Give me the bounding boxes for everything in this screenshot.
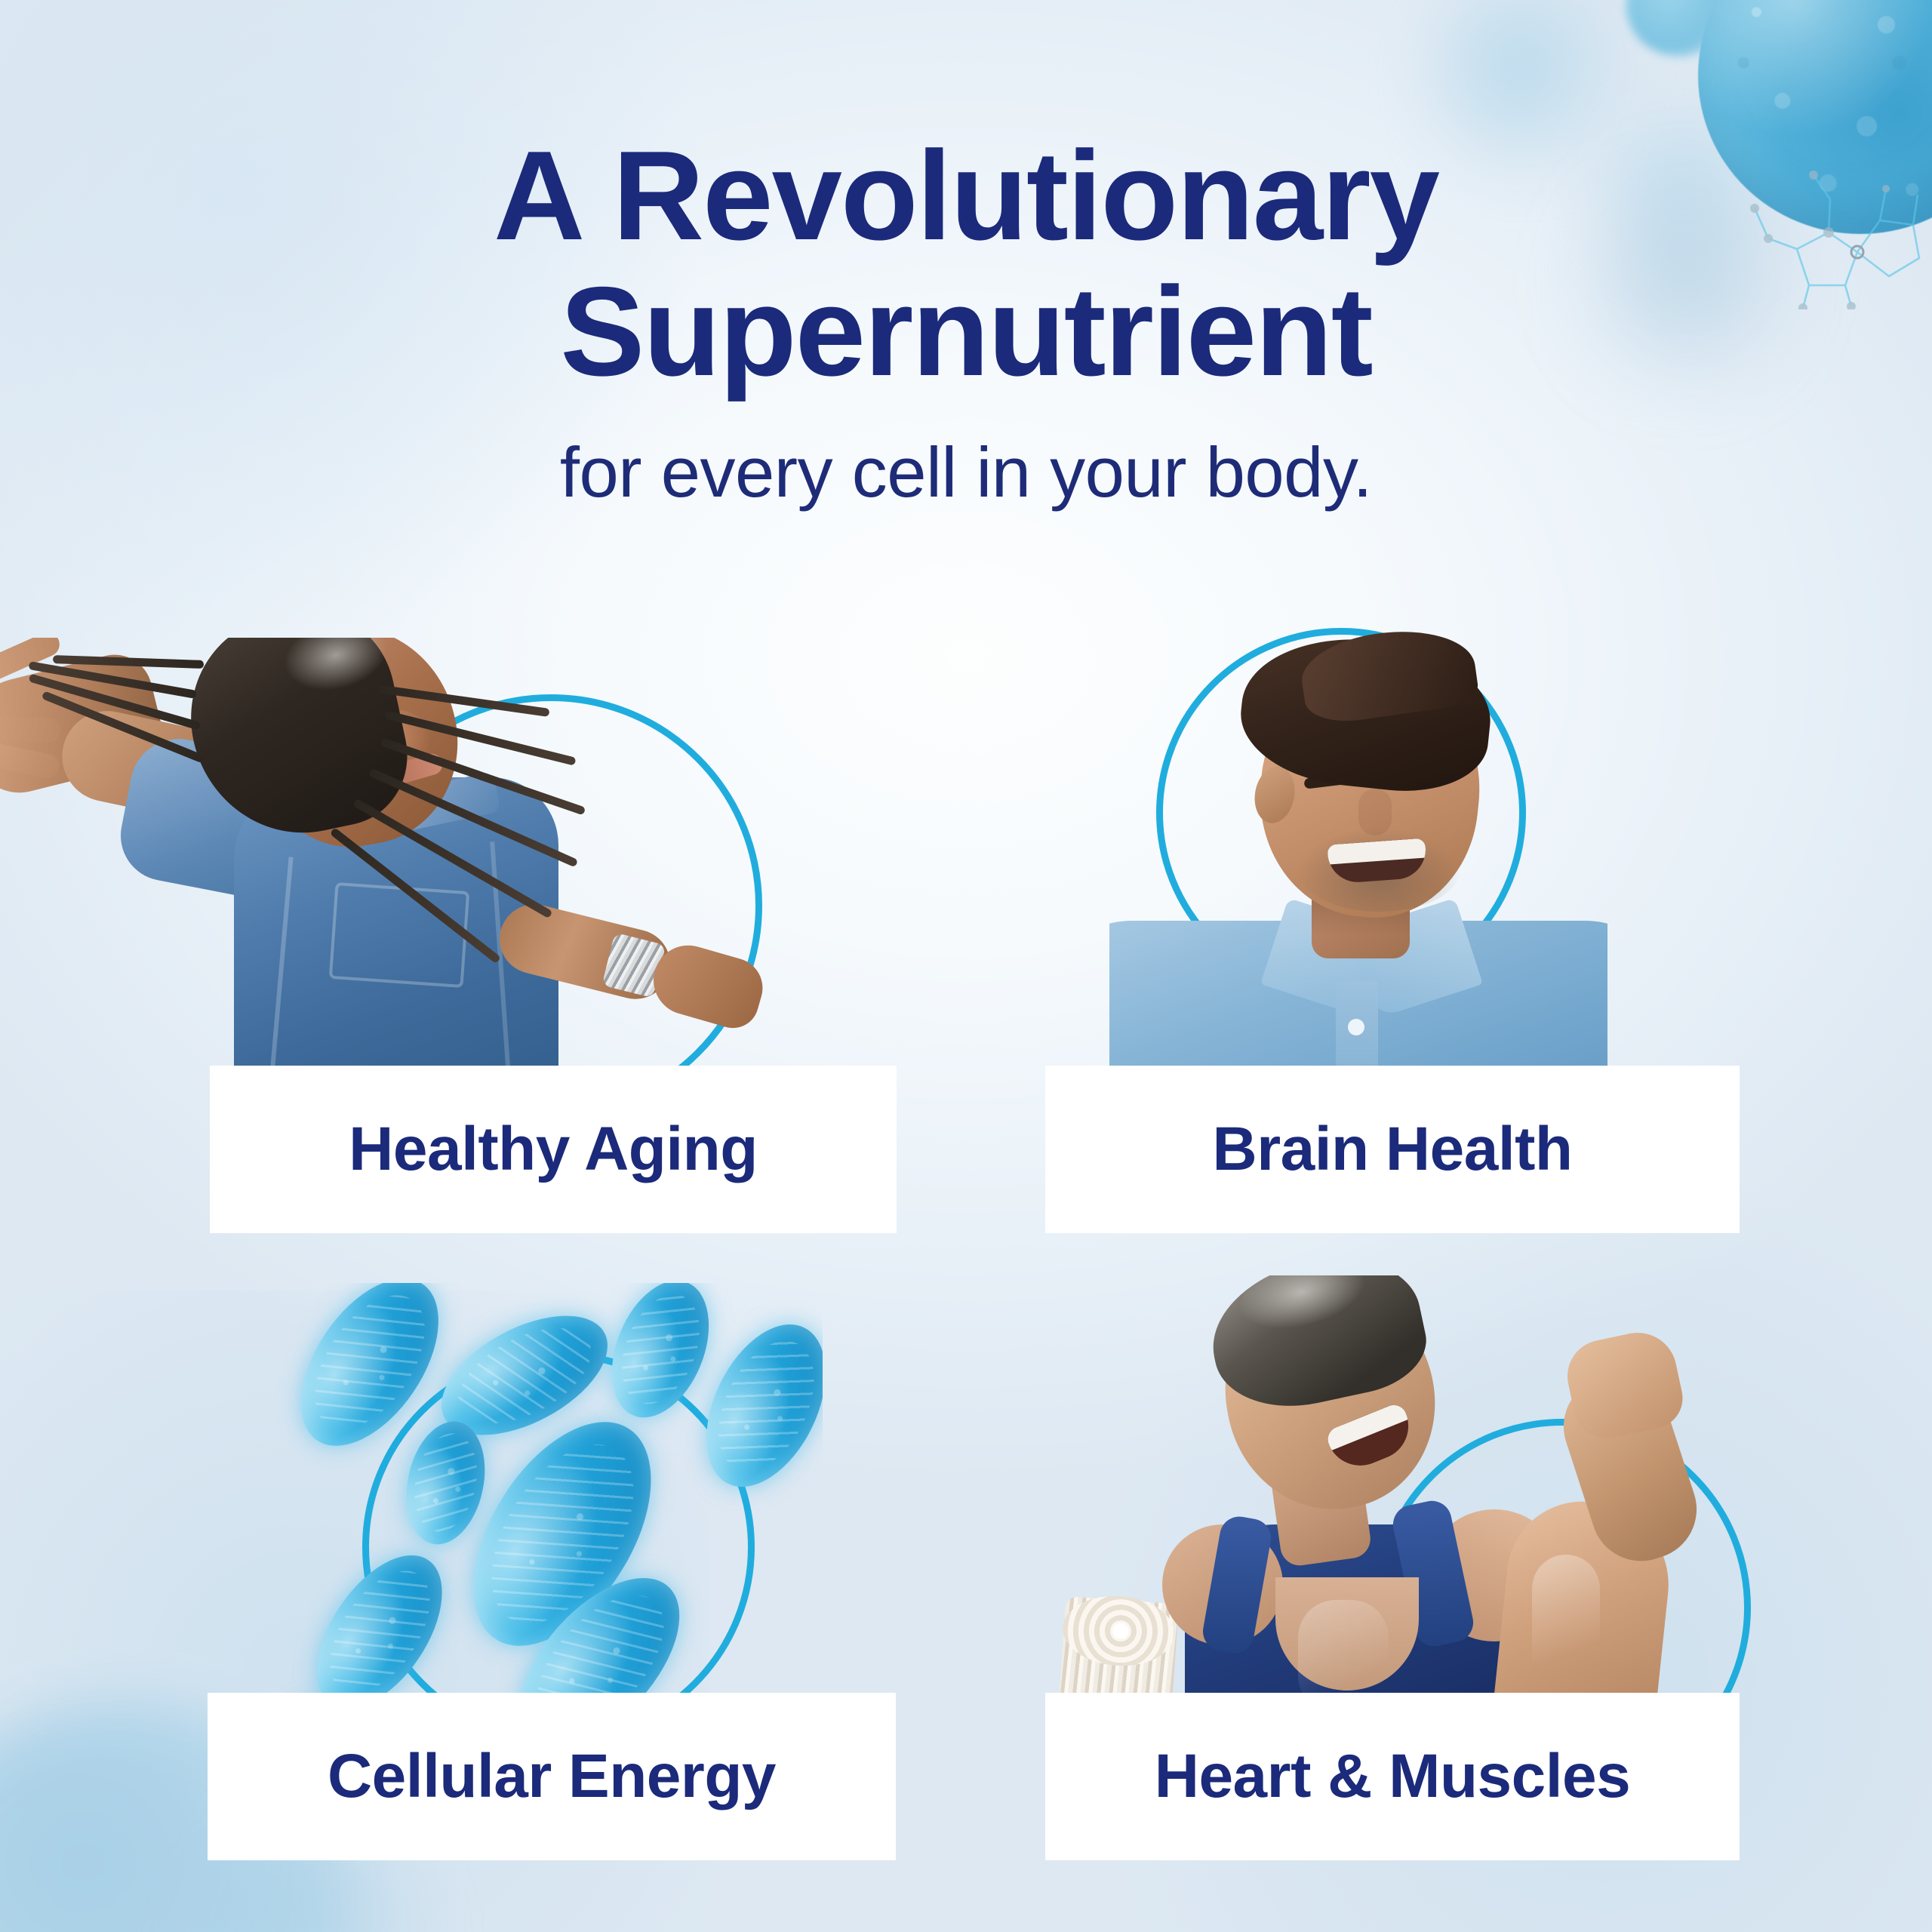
poster-canvas: A Revolutionary Supernutrient for every … xyxy=(0,0,1932,1932)
mitochondria-illustration xyxy=(249,1283,823,1751)
woman-flexing-bicep-photo xyxy=(1049,1275,1751,1751)
card-heart-muscles[interactable]: Heart & Muscles xyxy=(1045,1693,1740,1860)
card-label-cellular-energy: Cellular Energy xyxy=(328,1741,776,1812)
card-healthy-aging[interactable]: Healthy Aging xyxy=(210,1066,897,1233)
card-brain-health[interactable]: Brain Health xyxy=(1045,1066,1740,1233)
page-subtitle: for every cell in your body. xyxy=(0,432,1932,513)
page-title-line-2: Supernutrient xyxy=(0,264,1932,400)
card-label-healthy-aging: Healthy Aging xyxy=(349,1114,758,1185)
card-label-heart-muscles: Heart & Muscles xyxy=(1155,1741,1631,1812)
page-title: A Revolutionary Supernutrient xyxy=(0,128,1932,400)
woman-arms-open-denim-photo xyxy=(0,638,785,1075)
page-title-line-1: A Revolutionary xyxy=(494,125,1438,266)
card-cellular-energy[interactable]: Cellular Energy xyxy=(208,1693,896,1860)
smiling-man-chambray-shirt-photo xyxy=(1109,626,1607,1079)
card-label-brain-health: Brain Health xyxy=(1213,1114,1573,1185)
